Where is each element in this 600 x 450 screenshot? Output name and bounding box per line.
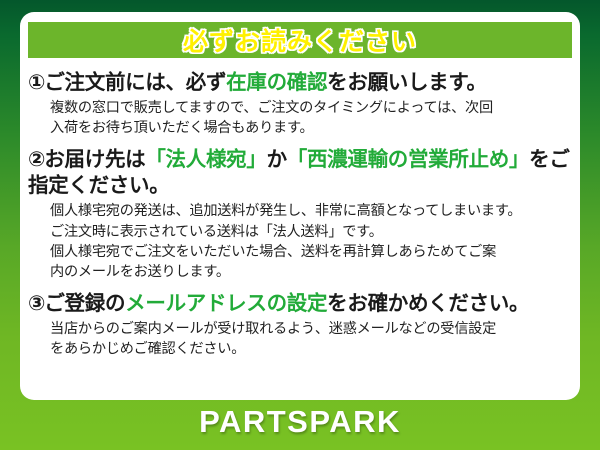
notice-item-heading-text: お届け先は bbox=[44, 148, 145, 171]
notice-item-number: ② bbox=[28, 148, 44, 171]
notice-item-heading-text: か bbox=[267, 148, 287, 171]
notice-item-body-line: 入荷をお待ち頂いただく場合もあります。 bbox=[50, 118, 572, 138]
notice-item-heading-text: をお確かめください。 bbox=[327, 292, 529, 315]
brand-logo-text: PARTSPARK bbox=[199, 404, 401, 439]
notice-item-heading: ②お届け先は「法人様宛」か「西濃運輸の営業所止め」をご指定ください。 bbox=[28, 147, 572, 199]
notice-item-body: 複数の窓口で販売してますので、ご注文のタイミングによっては、次回入荷をお待ち頂い… bbox=[50, 98, 572, 138]
notice-item-body: 当店からのご案内メールが受け取れるよう、迷惑メールなどの受信設定をあらかじめご確… bbox=[50, 319, 572, 359]
notice-item-heading: ③ご登録のメールアドレスの設定をお確かめください。 bbox=[28, 291, 572, 317]
notice-item-number: ③ bbox=[28, 292, 44, 315]
notice-item-body-line: 個人様宅宛の発送は、追加送料が発生し、非常に高額となってしまいます。 bbox=[50, 201, 572, 221]
notice-item-heading-highlight: メールアドレスの設定 bbox=[125, 292, 327, 315]
notice-item-body-line: をあらかじめご確認ください。 bbox=[50, 339, 572, 359]
notice-item-body-line: 内のメールをお送りします。 bbox=[50, 262, 572, 282]
notice-item-body-line: 当店からのご案内メールが受け取れるよう、迷惑メールなどの受信設定 bbox=[50, 319, 572, 339]
notice-item-body-line: ご注文時に表示されている送料は「法人送料」です。 bbox=[50, 222, 572, 242]
header-bar: 必ずお読みください bbox=[28, 22, 572, 58]
notice-item-list: ①ご注文前には、必ず在庫の確認をお願いします。複数の窓口で販売してますので、ご注… bbox=[28, 70, 572, 359]
notice-item-body-line: 複数の窓口で販売してますので、ご注文のタイミングによっては、次回 bbox=[50, 98, 572, 118]
notice-card: 必ずお読みください ①ご注文前には、必ず在庫の確認をお願いします。複数の窓口で販… bbox=[20, 12, 580, 400]
notice-item: ②お届け先は「法人様宛」か「西濃運輸の営業所止め」をご指定ください。個人様宅宛の… bbox=[28, 147, 572, 282]
notice-item-heading-highlight: 在庫の確認 bbox=[226, 71, 327, 94]
notice-item-heading-text: ご注文前には、必ず bbox=[44, 71, 226, 94]
notice-item-heading: ①ご注文前には、必ず在庫の確認をお願いします。 bbox=[28, 70, 572, 96]
notice-item-heading-highlight: 「法人様宛」 bbox=[145, 148, 266, 171]
notice-item-body: 個人様宅宛の発送は、追加送料が発生し、非常に高額となってしまいます。ご注文時に表… bbox=[50, 201, 572, 282]
notice-item-heading-text: ご登録の bbox=[44, 292, 125, 315]
notice-item: ③ご登録のメールアドレスの設定をお確かめください。当店からのご案内メールが受け取… bbox=[28, 291, 572, 359]
notice-item-heading-text: をお願いします。 bbox=[327, 71, 487, 94]
notice-item-heading-highlight: 「西濃運輸の営業所止め」 bbox=[287, 148, 529, 171]
notice-banner: 必ずお読みください ①ご注文前には、必ず在庫の確認をお願いします。複数の窓口で販… bbox=[0, 0, 600, 450]
brand-footer: PARTSPARK bbox=[0, 404, 600, 440]
notice-item-number: ① bbox=[28, 71, 44, 94]
page-title: 必ずお読みください bbox=[183, 22, 417, 58]
notice-item: ①ご注文前には、必ず在庫の確認をお願いします。複数の窓口で販売してますので、ご注… bbox=[28, 70, 572, 138]
notice-item-body-line: 個人様宅宛でご注文をいただいた場合、送料を再計算しあらためてご案 bbox=[50, 242, 572, 262]
